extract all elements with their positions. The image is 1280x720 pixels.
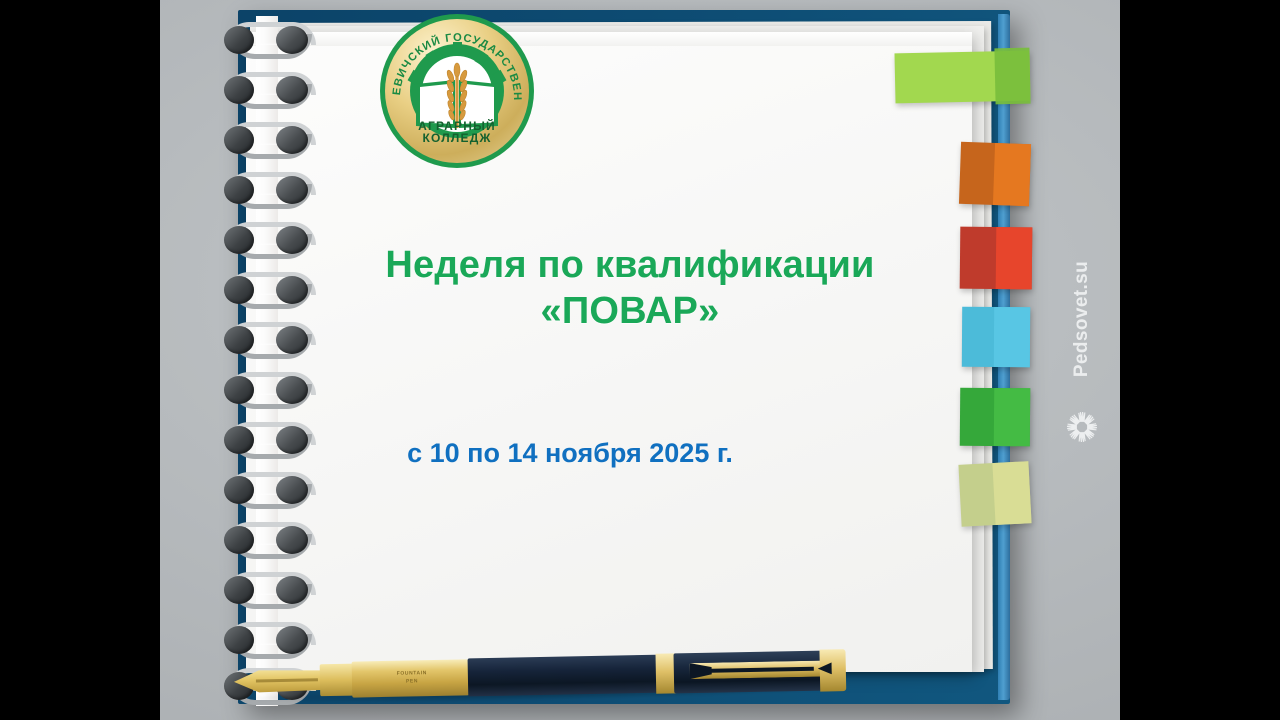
notebook-page: [246, 32, 972, 672]
sticky-tab-light-blue[interactable]: [962, 307, 1030, 367]
spiral-ring: [220, 370, 310, 410]
slide-subtitle: с 10 по 14 ноября 2025 г.: [290, 438, 850, 469]
spiral-ring: [220, 470, 310, 510]
spiral-ring: [220, 620, 310, 660]
pen-section-label: FOUNTAIN PEN: [372, 670, 452, 687]
watermark-text: Pedsovet.su: [1071, 244, 1093, 394]
sticky-tab-light-green[interactable]: [894, 51, 1030, 104]
sticky-tab-green[interactable]: [960, 388, 1031, 447]
watermark: Pedsovet.su: [1065, 250, 1099, 400]
sticky-tab-pale-green[interactable]: [958, 461, 1031, 527]
logo-bottom-text: АГРАРНЫЙ КОЛЛЕДЖ: [398, 110, 516, 154]
letterbox-right: [1120, 0, 1280, 720]
pen-barrel: [468, 655, 659, 697]
pen-label-line-2: PEN: [372, 677, 452, 686]
sticky-tab-red[interactable]: [960, 227, 1033, 290]
presentation-slide: ИВАЦЕВИЧСКИЙ ГОСУДАРСТВЕННЫЙ: [160, 0, 1120, 720]
slide-title-line-2: «ПОВАР»: [290, 288, 970, 334]
spiral-ring: [220, 170, 310, 210]
notebook-page-top-edge: [246, 32, 972, 46]
spiral-ring: [220, 70, 310, 110]
sticky-tab-overlay: [996, 227, 1033, 289]
slide-viewer: ИВАЦЕВИЧСКИЙ ГОСУДАРСТВЕННЫЙ: [0, 0, 1280, 720]
college-logo: ИВАЦЕВИЧСКИЙ ГОСУДАРСТВЕННЫЙ: [380, 14, 534, 168]
slide-title-line-1: Неделя по квалификации: [290, 242, 970, 288]
sticky-tab-overlay: [994, 388, 1031, 446]
flower-burst-icon: [1065, 410, 1099, 444]
sticky-tab-orange[interactable]: [959, 142, 1031, 206]
letterbox-left: [0, 0, 160, 720]
spiral-binding: [220, 16, 310, 706]
fountain-pen: FOUNTAIN PEN: [220, 646, 861, 716]
logo-bottom-line-2: КОЛЛЕДЖ: [423, 132, 492, 144]
sticky-tab-overlay: [992, 461, 1031, 525]
spiral-ring: [220, 20, 310, 60]
spiral-ring: [220, 120, 310, 160]
spiral-ring: [220, 520, 310, 560]
spiral-ring: [220, 570, 310, 610]
sticky-tab-overlay: [993, 143, 1031, 206]
slide-title: Неделя по квалификации «ПОВАР»: [290, 242, 970, 335]
sticky-tab-overlay: [994, 307, 1030, 367]
sticky-tab-overlay: [994, 48, 1030, 105]
